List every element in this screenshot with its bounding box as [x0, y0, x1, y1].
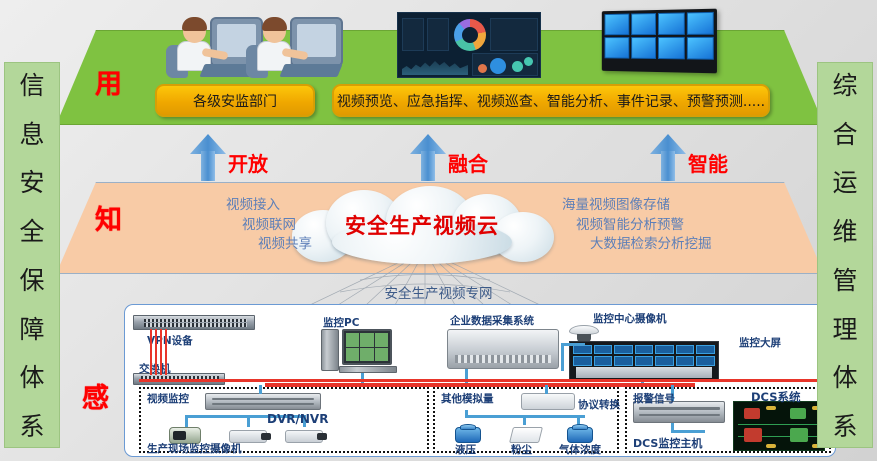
right-pillar-operations-management: 综 合 运 维 管 理 体 系 — [817, 62, 873, 448]
cloud-left-capabilities: 视频接入 视频联网 视频共享 — [150, 196, 280, 255]
arrow-open-label: 开放 — [228, 148, 268, 177]
protocol-converter-icon — [521, 393, 575, 410]
cloud-title: 安全生产视频云 — [286, 210, 558, 240]
video-surveillance-title: 视频监控 — [147, 391, 189, 406]
site-camera-caption: 生产现场监控摄像机 — [147, 441, 242, 456]
dvr-nvr-icon — [205, 393, 321, 410]
arrow-open-icon — [190, 134, 226, 181]
dvr-nvr-label: DVR/NVR — [267, 412, 328, 426]
sparkline-shape — [402, 55, 468, 75]
data-acquisition-server-icon — [447, 329, 559, 369]
protocol-converter-label: 协议转换 — [578, 397, 620, 412]
network-backbone-red — [139, 379, 829, 382]
cloud-left-item-0: 视频接入 — [150, 196, 280, 216]
sensor-label-dust: 粉尘 — [511, 442, 532, 457]
control-room-wall-icon — [569, 341, 719, 381]
donut-chart-shape — [454, 19, 486, 51]
layer-key-know: 知 — [95, 198, 122, 237]
analog-signals-title: 其他模拟量 — [441, 391, 494, 406]
sensor-label-gas: 气体浓度 — [559, 442, 601, 457]
arrow-smart-label: 智能 — [688, 148, 728, 177]
pillar-left-char-5: 障 — [19, 317, 44, 342]
gas-sensor-icon — [567, 427, 593, 443]
pillar-right-char-5: 理 — [832, 317, 857, 342]
bullet-camera-icon-2 — [285, 430, 323, 443]
pillar-left-char-6: 体 — [19, 365, 44, 390]
dust-sensor-icon — [509, 427, 543, 443]
pillar-right-char-1: 合 — [832, 122, 857, 147]
cloud-right-item-0: 海量视频图像存储 — [562, 196, 792, 216]
arrow-smart-icon — [650, 134, 686, 181]
pillar-left-char-2: 安 — [19, 170, 44, 195]
private-network-label: 安全生产视频专网 — [0, 282, 877, 302]
pillar-left-char-0: 信 — [19, 73, 44, 98]
perception-layer-panel: VPN设备 交换机 监控PC 企业数据采集系统 — [124, 304, 836, 457]
video-wall-icon — [598, 10, 716, 72]
dcs-system-label: DCS系统 — [751, 389, 800, 405]
arrow-fuse-icon — [410, 134, 446, 181]
pillar-right-char-0: 综 — [832, 73, 857, 98]
pillar-right-char-7: 系 — [832, 414, 857, 439]
cloud-right-item-2: 大数据检索分析挖掘 — [590, 235, 792, 255]
pillar-left-char-4: 保 — [19, 268, 44, 293]
cloud-right-capabilities: 海量视频图像存储 视频智能分析预警 大数据检索分析挖掘 — [562, 196, 792, 255]
hydraulic-sensor-icon — [455, 427, 481, 443]
pillar-left-char-3: 全 — [19, 219, 44, 244]
monitoring-pc-label: 监控PC — [323, 315, 359, 330]
pc-monitor-icon — [342, 329, 392, 365]
left-pillar-information-security: 信 息 安 全 保 障 体 系 — [4, 62, 60, 448]
pillar-right-char-3: 维 — [832, 219, 857, 244]
dcs-host-label: DCS监控主机 — [633, 435, 702, 451]
bubble-chart-shape — [476, 55, 538, 75]
arrow-fuse-label: 融合 — [448, 148, 488, 177]
pillar-right-char-4: 管 — [832, 268, 857, 293]
video-wall-display-label: 监控大屏 — [739, 335, 781, 350]
architecture-diagram: 信 息 安 全 保 障 体 系 综 合 运 维 管 理 体 系 — [0, 0, 877, 461]
enterprise-data-acquisition-label: 企业数据采集系统 — [450, 313, 534, 328]
alarm-signal-label: 报警信号 — [633, 391, 675, 406]
analytics-dashboard-icon — [397, 12, 541, 78]
vpn-device-icon — [133, 315, 255, 330]
vpn-device-label: VPN设备 — [147, 333, 193, 348]
function-box[interactable]: 视频预览、应急指挥、视频巡查、智能分析、事件记录、预警预测..... — [332, 84, 770, 117]
sensor-label-hydraulic: 液压 — [455, 442, 476, 457]
pillar-right-char-2: 运 — [832, 170, 857, 195]
cloud-right-item-1: 视频智能分析预警 — [576, 216, 792, 236]
layer-key-use: 用 — [95, 62, 122, 101]
layer-key-feel: 感 — [82, 376, 109, 415]
pillar-left-char-1: 息 — [19, 122, 44, 147]
monitor-shape — [290, 17, 343, 67]
cloud-left-item-1: 视频联网 — [150, 216, 296, 236]
dept-box[interactable]: 各级安监部门 — [155, 84, 315, 117]
control-center-camera-label: 监控中心摄像机 — [593, 311, 667, 326]
operator-workstation-icon-2 — [246, 14, 346, 78]
pillar-left-char-7: 系 — [19, 414, 44, 439]
pillar-right-char-6: 体 — [832, 365, 857, 390]
pc-tower-icon — [321, 329, 339, 371]
dcs-system-icon — [733, 401, 825, 451]
